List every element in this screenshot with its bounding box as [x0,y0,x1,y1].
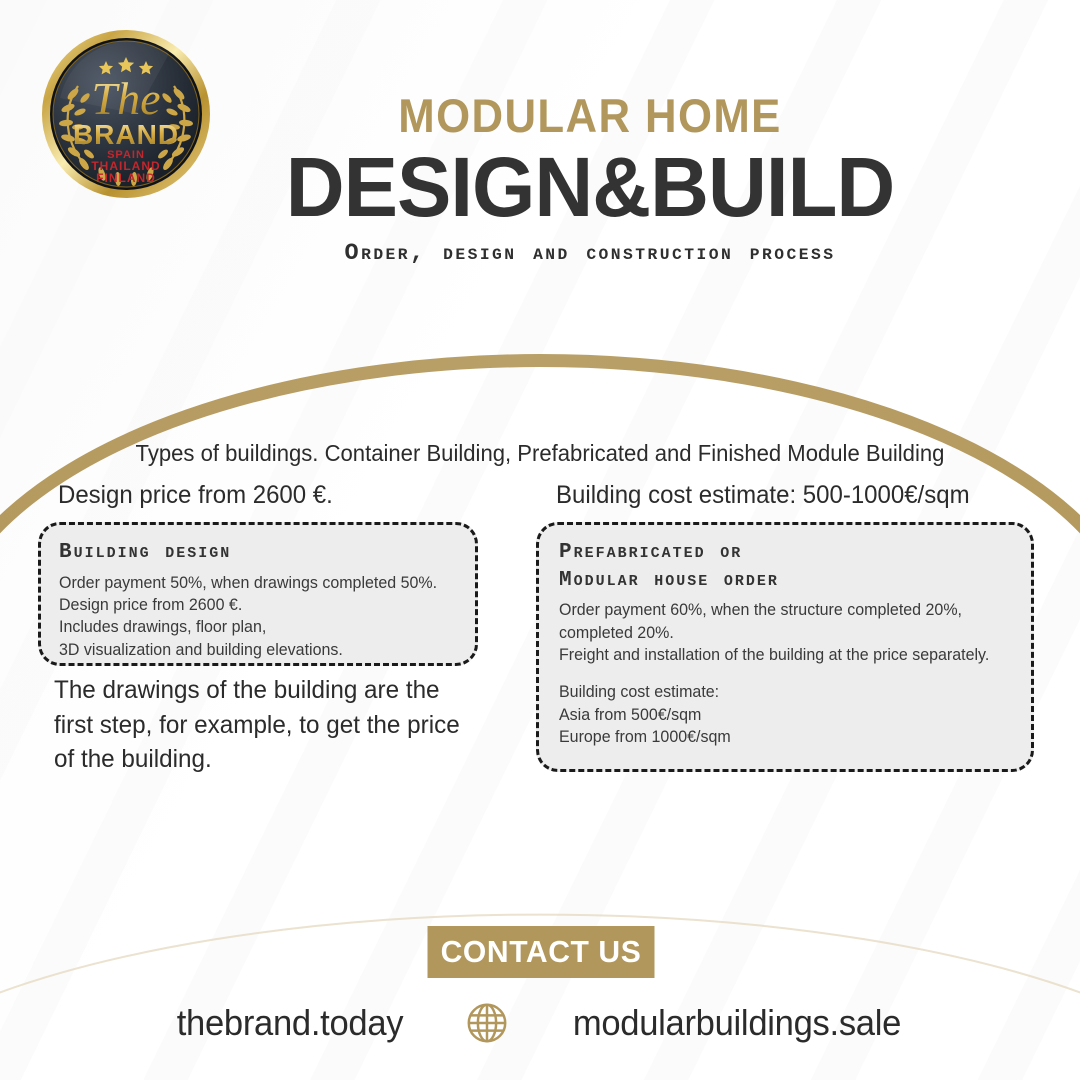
note-line: of the building. [54,742,471,777]
card-line: Asia from 500€/sqm [559,704,997,726]
footer-links-row: thebrand.today modularbuildings.sale [0,1000,1080,1046]
card-building-design-title: Building design [59,539,457,567]
globe-icon [464,1000,510,1046]
card-building-design[interactable]: Building design Order payment 50%, when … [38,522,478,666]
card-line: Order payment 60%, when the structure co… [559,599,997,621]
card-prefabricated-body: Order payment 60%, when the structure co… [559,599,997,748]
building-cost-label: Building cost estimate: 500-1000€/sqm [556,481,970,510]
kicker-modular-home: MODULAR HOME [181,92,999,139]
logo-country-finland: FINLAND [96,171,156,185]
card-line: Freight and installation of the building… [559,644,997,666]
contact-us-button[interactable]: CONTACT US [428,926,655,978]
poster-canvas: The BRAND SPAIN THAILAND FINLAND MODULAR… [0,0,1080,1080]
website-thebrand-today[interactable]: thebrand.today [177,1002,404,1044]
card-line: 3D visualization and building elevations… [59,639,445,661]
card-line-spacer [559,666,997,681]
note-line: first step, for example, to get the pric… [54,708,471,743]
card-building-design-body: Order payment 50%, when drawings complet… [59,572,445,661]
page-subtitle: Order, design and construction process [141,240,1039,266]
card-line: Design price from 2600 €. [59,594,445,616]
design-price-label: Design price from 2600 €. [58,481,333,510]
card-line: Building cost estimate: [559,681,997,703]
card-line: Order payment 50%, when drawings complet… [59,572,445,594]
card-line: Includes drawings, floor plan, [59,616,445,638]
header-block: MODULAR HOME DESIGN&BUILD Order, design … [150,92,1030,266]
drawings-note-paragraph: The drawings of the building are the fir… [54,673,471,777]
card-line: Europe from 1000€/sqm [559,726,997,748]
card-prefabricated-title-line1: Prefabricated or [559,539,1011,567]
page-title: DESIGN&BUILD [163,145,1017,231]
card-line: completed 20%. [559,622,997,644]
card-prefabricated-order[interactable]: Prefabricated or modular house order Ord… [536,522,1034,772]
note-line: The drawings of the building are the [54,673,471,708]
website-modularbuildings-sale[interactable]: modularbuildings.sale [573,1002,901,1044]
types-of-buildings-line: Types of buildings. Container Building, … [22,440,1059,467]
card-prefabricated-title-line2: modular house order [559,567,1011,595]
